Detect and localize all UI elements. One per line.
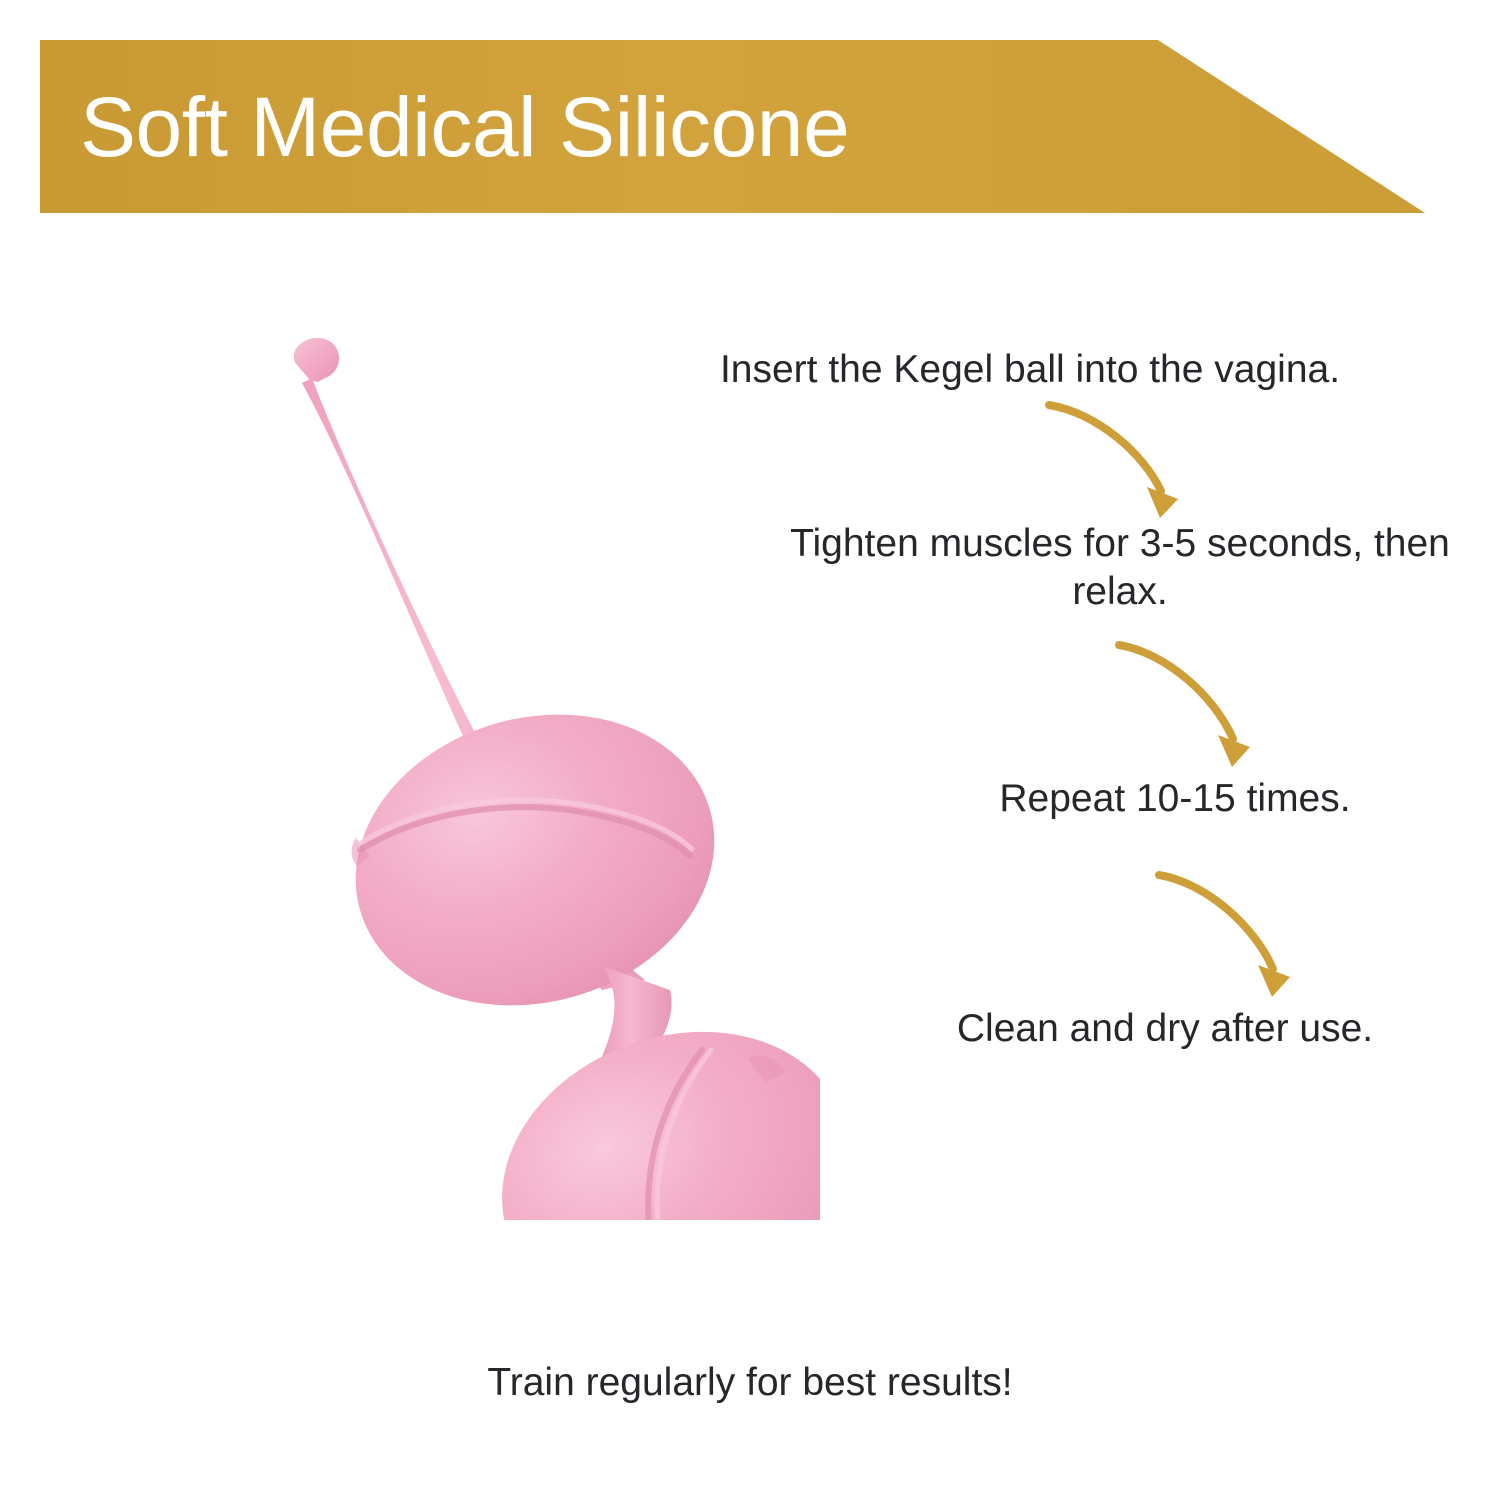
infographic-page: Soft Medical Silicone [0, 0, 1500, 1500]
page-title: Soft Medical Silicone [80, 85, 849, 169]
step-2-text: Tighten muscles for 3-5 seconds, then re… [780, 520, 1460, 615]
step-1-text: Insert the Kegel ball into the vagina. [660, 346, 1400, 394]
footer-note: Train regularly for best results! [0, 1360, 1500, 1407]
curved-down-arrow-icon-1 [1035, 395, 1215, 520]
header-banner: Soft Medical Silicone [40, 40, 1425, 213]
curved-down-arrow-icon-3 [1145, 865, 1325, 1000]
step-3-text: Repeat 10-15 times. [890, 775, 1460, 823]
steps-list: Insert the Kegel ball into the vagina. T… [640, 320, 1460, 1120]
step-4-text: Clean and dry after use. [870, 1005, 1460, 1053]
curved-down-arrow-icon-2 [1105, 635, 1285, 770]
